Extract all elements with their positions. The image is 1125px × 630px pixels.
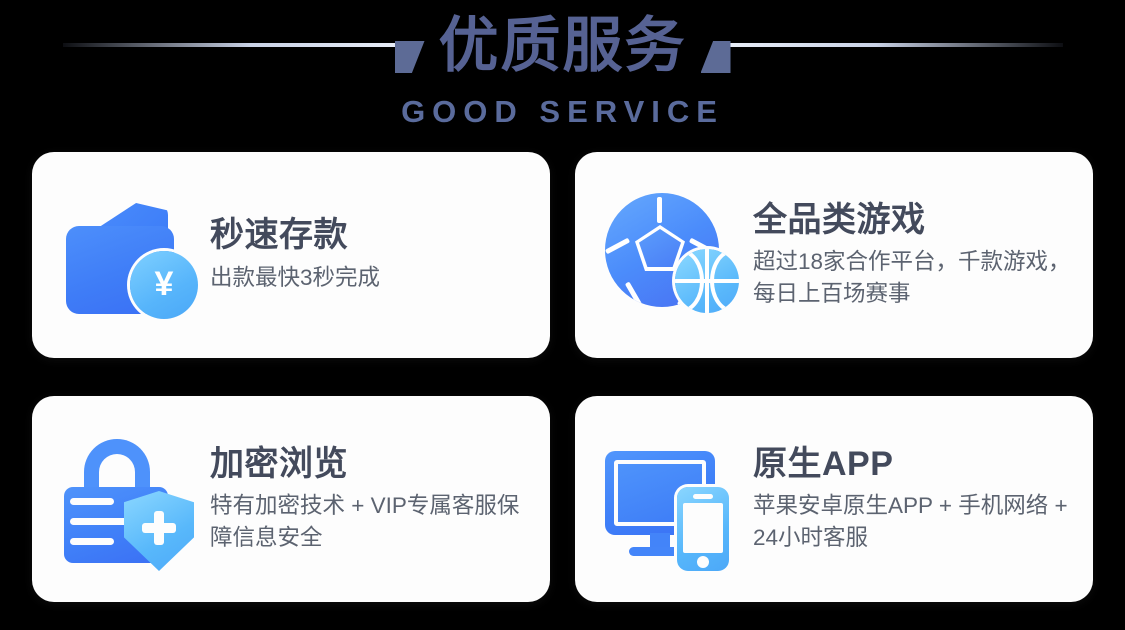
basketball xyxy=(675,249,739,313)
decoration-left xyxy=(63,27,423,65)
decoration-right xyxy=(703,27,1063,65)
phone-home-button xyxy=(697,556,709,568)
yen-coin-icon: ¥ xyxy=(130,251,198,319)
feature-card[interactable]: 原生APP 苹果安卓原生APP + 手机网络 + 24小时客服 xyxy=(575,396,1093,602)
lock-slot xyxy=(70,518,130,525)
wallet-coin-icon: ¥ xyxy=(58,181,206,329)
lock-slot xyxy=(70,538,114,545)
promo-page: 优质服务 GOOD SERVICE ¥ 秒速存款 出款最快3秒完成 xyxy=(0,0,1125,630)
card-text: 秒速存款 出款最快3秒完成 xyxy=(206,216,380,293)
feature-card[interactable]: 全品类游戏 超过18家合作平台，千款游戏，每日上百场赛事 xyxy=(575,152,1093,358)
soccer-basketball-icon xyxy=(601,181,749,329)
card-subtitle: 特有加密技术 + VIP专属客服保障信息安全 xyxy=(210,490,528,554)
yen-symbol: ¥ xyxy=(155,267,174,301)
soccer-seam xyxy=(657,197,662,223)
card-title: 全品类游戏 xyxy=(753,201,1071,240)
feature-card[interactable]: ¥ 秒速存款 出款最快3秒完成 xyxy=(32,152,550,358)
feature-card-grid: ¥ 秒速存款 出款最快3秒完成 xyxy=(32,152,1093,602)
lock-shield-icon xyxy=(58,425,206,573)
title-row: 优质服务 xyxy=(0,0,1125,92)
phone-icon xyxy=(677,487,729,571)
lock-slot xyxy=(70,498,114,505)
page-title: 优质服务 xyxy=(423,16,703,76)
card-title: 加密浏览 xyxy=(210,445,528,484)
soccer-seam xyxy=(605,238,630,255)
plus-icon xyxy=(142,511,176,545)
card-text: 原生APP 苹果安卓原生APP + 手机网络 + 24小时客服 xyxy=(749,445,1071,554)
decoration-line-right xyxy=(723,43,1063,47)
card-subtitle: 苹果安卓原生APP + 手机网络 + 24小时客服 xyxy=(753,490,1071,554)
soccer-seam xyxy=(625,281,642,306)
decoration-line-left xyxy=(63,43,403,47)
card-title: 秒速存款 xyxy=(210,216,380,255)
feature-card[interactable]: 加密浏览 特有加密技术 + VIP专属客服保障信息安全 xyxy=(32,396,550,602)
monitor-phone-icon xyxy=(601,425,749,573)
decoration-slab-left xyxy=(395,41,425,73)
decoration-slab-right xyxy=(701,41,731,73)
card-subtitle: 超过18家合作平台，千款游戏，每日上百场赛事 xyxy=(753,246,1071,310)
page-subtitle: GOOD SERVICE xyxy=(0,94,1125,130)
page-header: 优质服务 GOOD SERVICE xyxy=(0,0,1125,140)
card-text: 全品类游戏 超过18家合作平台，千款游戏，每日上百场赛事 xyxy=(749,201,1071,310)
card-subtitle: 出款最快3秒完成 xyxy=(210,262,380,294)
basketball-arc-right xyxy=(710,249,739,313)
card-title: 原生APP xyxy=(753,445,1071,484)
basketball-arc-left xyxy=(675,249,704,313)
phone-screen xyxy=(683,503,723,553)
phone-speaker xyxy=(693,494,713,499)
card-text: 加密浏览 特有加密技术 + VIP专属客服保障信息安全 xyxy=(206,445,528,554)
